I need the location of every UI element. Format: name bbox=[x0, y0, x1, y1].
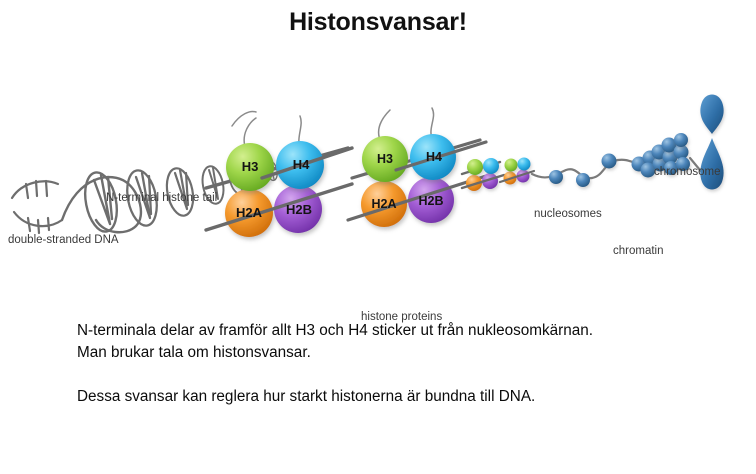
label-chromatin: chromatin bbox=[613, 245, 664, 257]
histone-label-h2b-2: H2B bbox=[418, 194, 443, 208]
slide-canvas: Histonsvansar! bbox=[0, 0, 756, 474]
chromatin-bead bbox=[674, 133, 688, 147]
label-chromosome: chromosome bbox=[654, 166, 720, 178]
beads-on-a-string bbox=[532, 154, 650, 188]
histone-sphere-h3-3 bbox=[467, 159, 483, 175]
nucleosome-octamer-2: H3 H4 H2A H2B bbox=[348, 108, 486, 227]
histone-sphere-h4-3 bbox=[483, 158, 499, 174]
histone-label-h2a-2: H2A bbox=[371, 197, 396, 211]
body-line-1: N-terminala delar av framför allt H3 och… bbox=[77, 320, 717, 342]
histone-label-h2a: H2A bbox=[236, 205, 263, 220]
nucleosome-octamer-4-small bbox=[500, 158, 534, 185]
nucleosome-octamer-3-small bbox=[462, 158, 504, 191]
histone-label-h4-2: H4 bbox=[426, 150, 442, 164]
label-nucleosomes: nucleosomes bbox=[534, 208, 602, 220]
histone-label-h4: H4 bbox=[293, 157, 310, 172]
histone-label-h3-2: H3 bbox=[377, 152, 393, 166]
paragraph-gap bbox=[77, 364, 717, 386]
nucleosome-octamer-1: H3 H4 H2A H2B bbox=[206, 112, 352, 237]
histone-sphere-h3-4 bbox=[505, 159, 518, 172]
histone-label-h2b: H2B bbox=[286, 202, 312, 217]
nucleosome-bead bbox=[549, 170, 563, 184]
nucleosome-bead bbox=[602, 154, 617, 169]
page-title: Histonsvansar! bbox=[0, 8, 756, 37]
body-line-2: Man brukar tala om histonsvansar. bbox=[77, 342, 717, 364]
slide-body-text: N-terminala delar av framför allt H3 och… bbox=[77, 320, 717, 408]
histone-label-h3: H3 bbox=[242, 159, 259, 174]
label-double-stranded-dna: double-stranded DNA bbox=[8, 234, 119, 246]
body-line-3: Dessa svansar kan reglera hur starkt his… bbox=[77, 386, 717, 408]
label-n-terminal-histone-tail: N-terminal histone tail bbox=[106, 192, 217, 204]
nucleosome-bead bbox=[576, 173, 590, 187]
dna-packaging-figure: H3 H4 H2A H2B H3 H4 H2A bbox=[0, 78, 756, 278]
histone-sphere-h4-4 bbox=[518, 158, 531, 171]
